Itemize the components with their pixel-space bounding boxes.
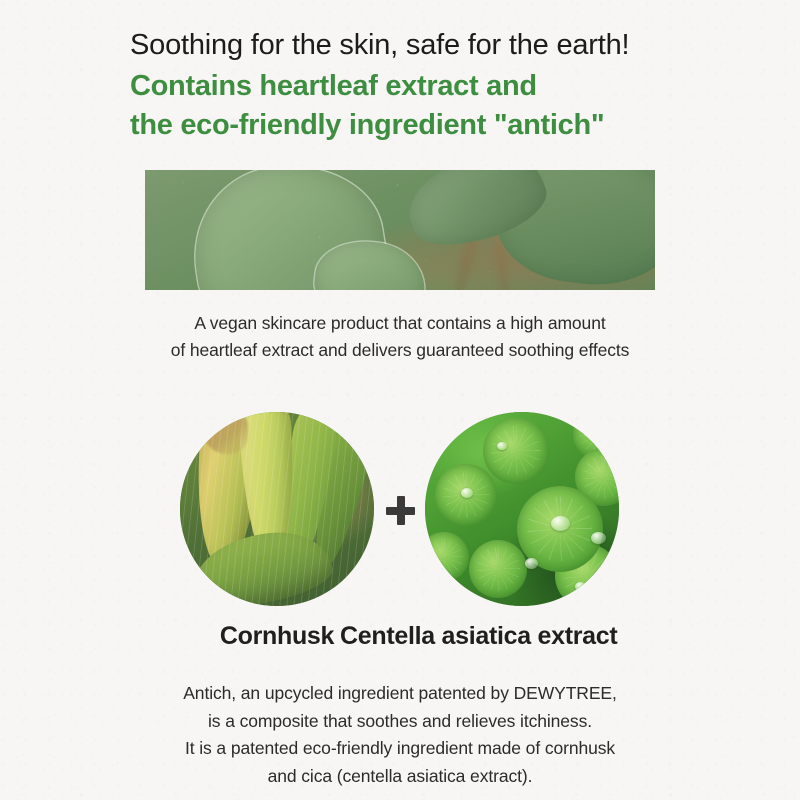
closing-paragraph-line-2: is a composite that soothes and relieves… [0, 708, 800, 736]
water-droplet [525, 558, 538, 569]
ingredient-labels-row: Cornhusk Centella asiatica extract [0, 622, 800, 656]
plus-icon-bar-vertical [397, 496, 405, 525]
cornhusk-image [180, 412, 374, 606]
closing-paragraph-line-3: It is a patented eco-friendly ingredient… [0, 735, 800, 763]
headline-block: Soothing for the skin, safe for the eart… [130, 26, 730, 144]
plus-icon [386, 496, 415, 525]
heartleaf-banner-image [145, 170, 655, 290]
lead-paragraph: A vegan skincare product that contains a… [0, 310, 800, 364]
headline-line-2: Contains heartleaf extract and [130, 67, 730, 106]
centella-illustration [425, 412, 619, 606]
heartleaf-illustration [145, 170, 655, 290]
water-droplet [591, 532, 606, 544]
headline-line-1: Soothing for the skin, safe for the eart… [130, 26, 730, 64]
water-droplet [551, 516, 570, 531]
water-droplet [461, 488, 473, 498]
centella-leaf [469, 540, 527, 598]
water-droplet [575, 582, 586, 591]
closing-paragraph-line-1: Antich, an upcycled ingredient patented … [0, 680, 800, 708]
closing-paragraph: Antich, an upcycled ingredient patented … [0, 680, 800, 791]
centella-leaf [483, 418, 549, 484]
lead-paragraph-line-1: A vegan skincare product that contains a… [0, 310, 800, 337]
lead-paragraph-line-2: of heartleaf extract and delivers guaran… [0, 337, 800, 364]
cornhusk-illustration [180, 412, 374, 606]
water-droplet [497, 442, 507, 450]
closing-paragraph-line-4: and cica (centella asiatica extract). [0, 763, 800, 791]
centella-image [425, 412, 619, 606]
centella-label: Centella asiatica extract [340, 622, 704, 651]
headline-line-3: the eco-friendly ingredient "antich" [130, 106, 730, 145]
